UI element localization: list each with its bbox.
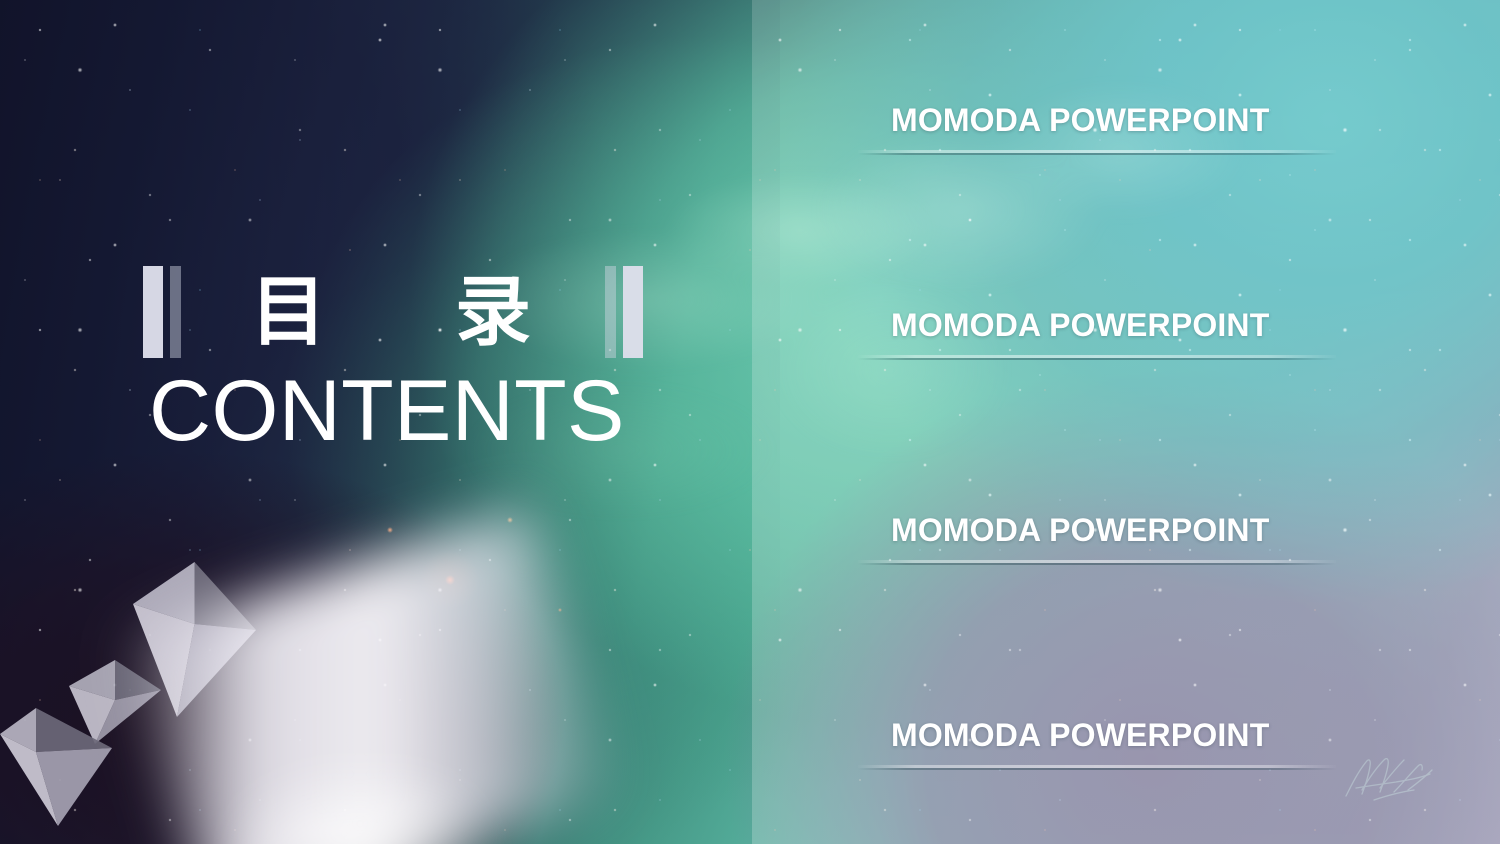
list-item-label: MOMODA POWERPOINT <box>858 308 1336 344</box>
list-item-underline <box>858 355 1336 360</box>
list-item-label: MOMODA POWERPOINT <box>858 513 1336 549</box>
list-item[interactable]: MOMODA POWERPOINT <box>858 308 1336 360</box>
list-item[interactable]: MOMODA POWERPOINT <box>858 718 1336 770</box>
contents-slide: 目 录 CONTENTS MOMODA POWERPOINT MOMODA PO… <box>0 0 1500 844</box>
list-item-underline <box>858 560 1336 565</box>
title-block: 目 录 CONTENTS <box>143 262 643 456</box>
list-item-underline <box>858 765 1336 770</box>
list-item-label: MOMODA POWERPOINT <box>858 718 1336 754</box>
signature-watermark-icon <box>1338 744 1442 806</box>
list-item[interactable]: MOMODA POWERPOINT <box>858 103 1336 155</box>
page-title-cn: 目 录 <box>181 274 605 350</box>
double-bar-mark-left-icon <box>143 266 181 358</box>
list-item-underline <box>858 150 1336 155</box>
diamond-medium-shape <box>0 708 112 826</box>
title-cn-row: 目 录 <box>143 262 643 362</box>
list-item-label: MOMODA POWERPOINT <box>858 103 1336 139</box>
page-title-en: CONTENTS <box>143 368 643 456</box>
light-streak-bloom <box>230 760 490 844</box>
contents-list: MOMODA POWERPOINT MOMODA POWERPOINT MOMO… <box>858 0 1338 844</box>
list-item[interactable]: MOMODA POWERPOINT <box>858 513 1336 565</box>
double-bar-mark-right-icon <box>605 266 643 358</box>
